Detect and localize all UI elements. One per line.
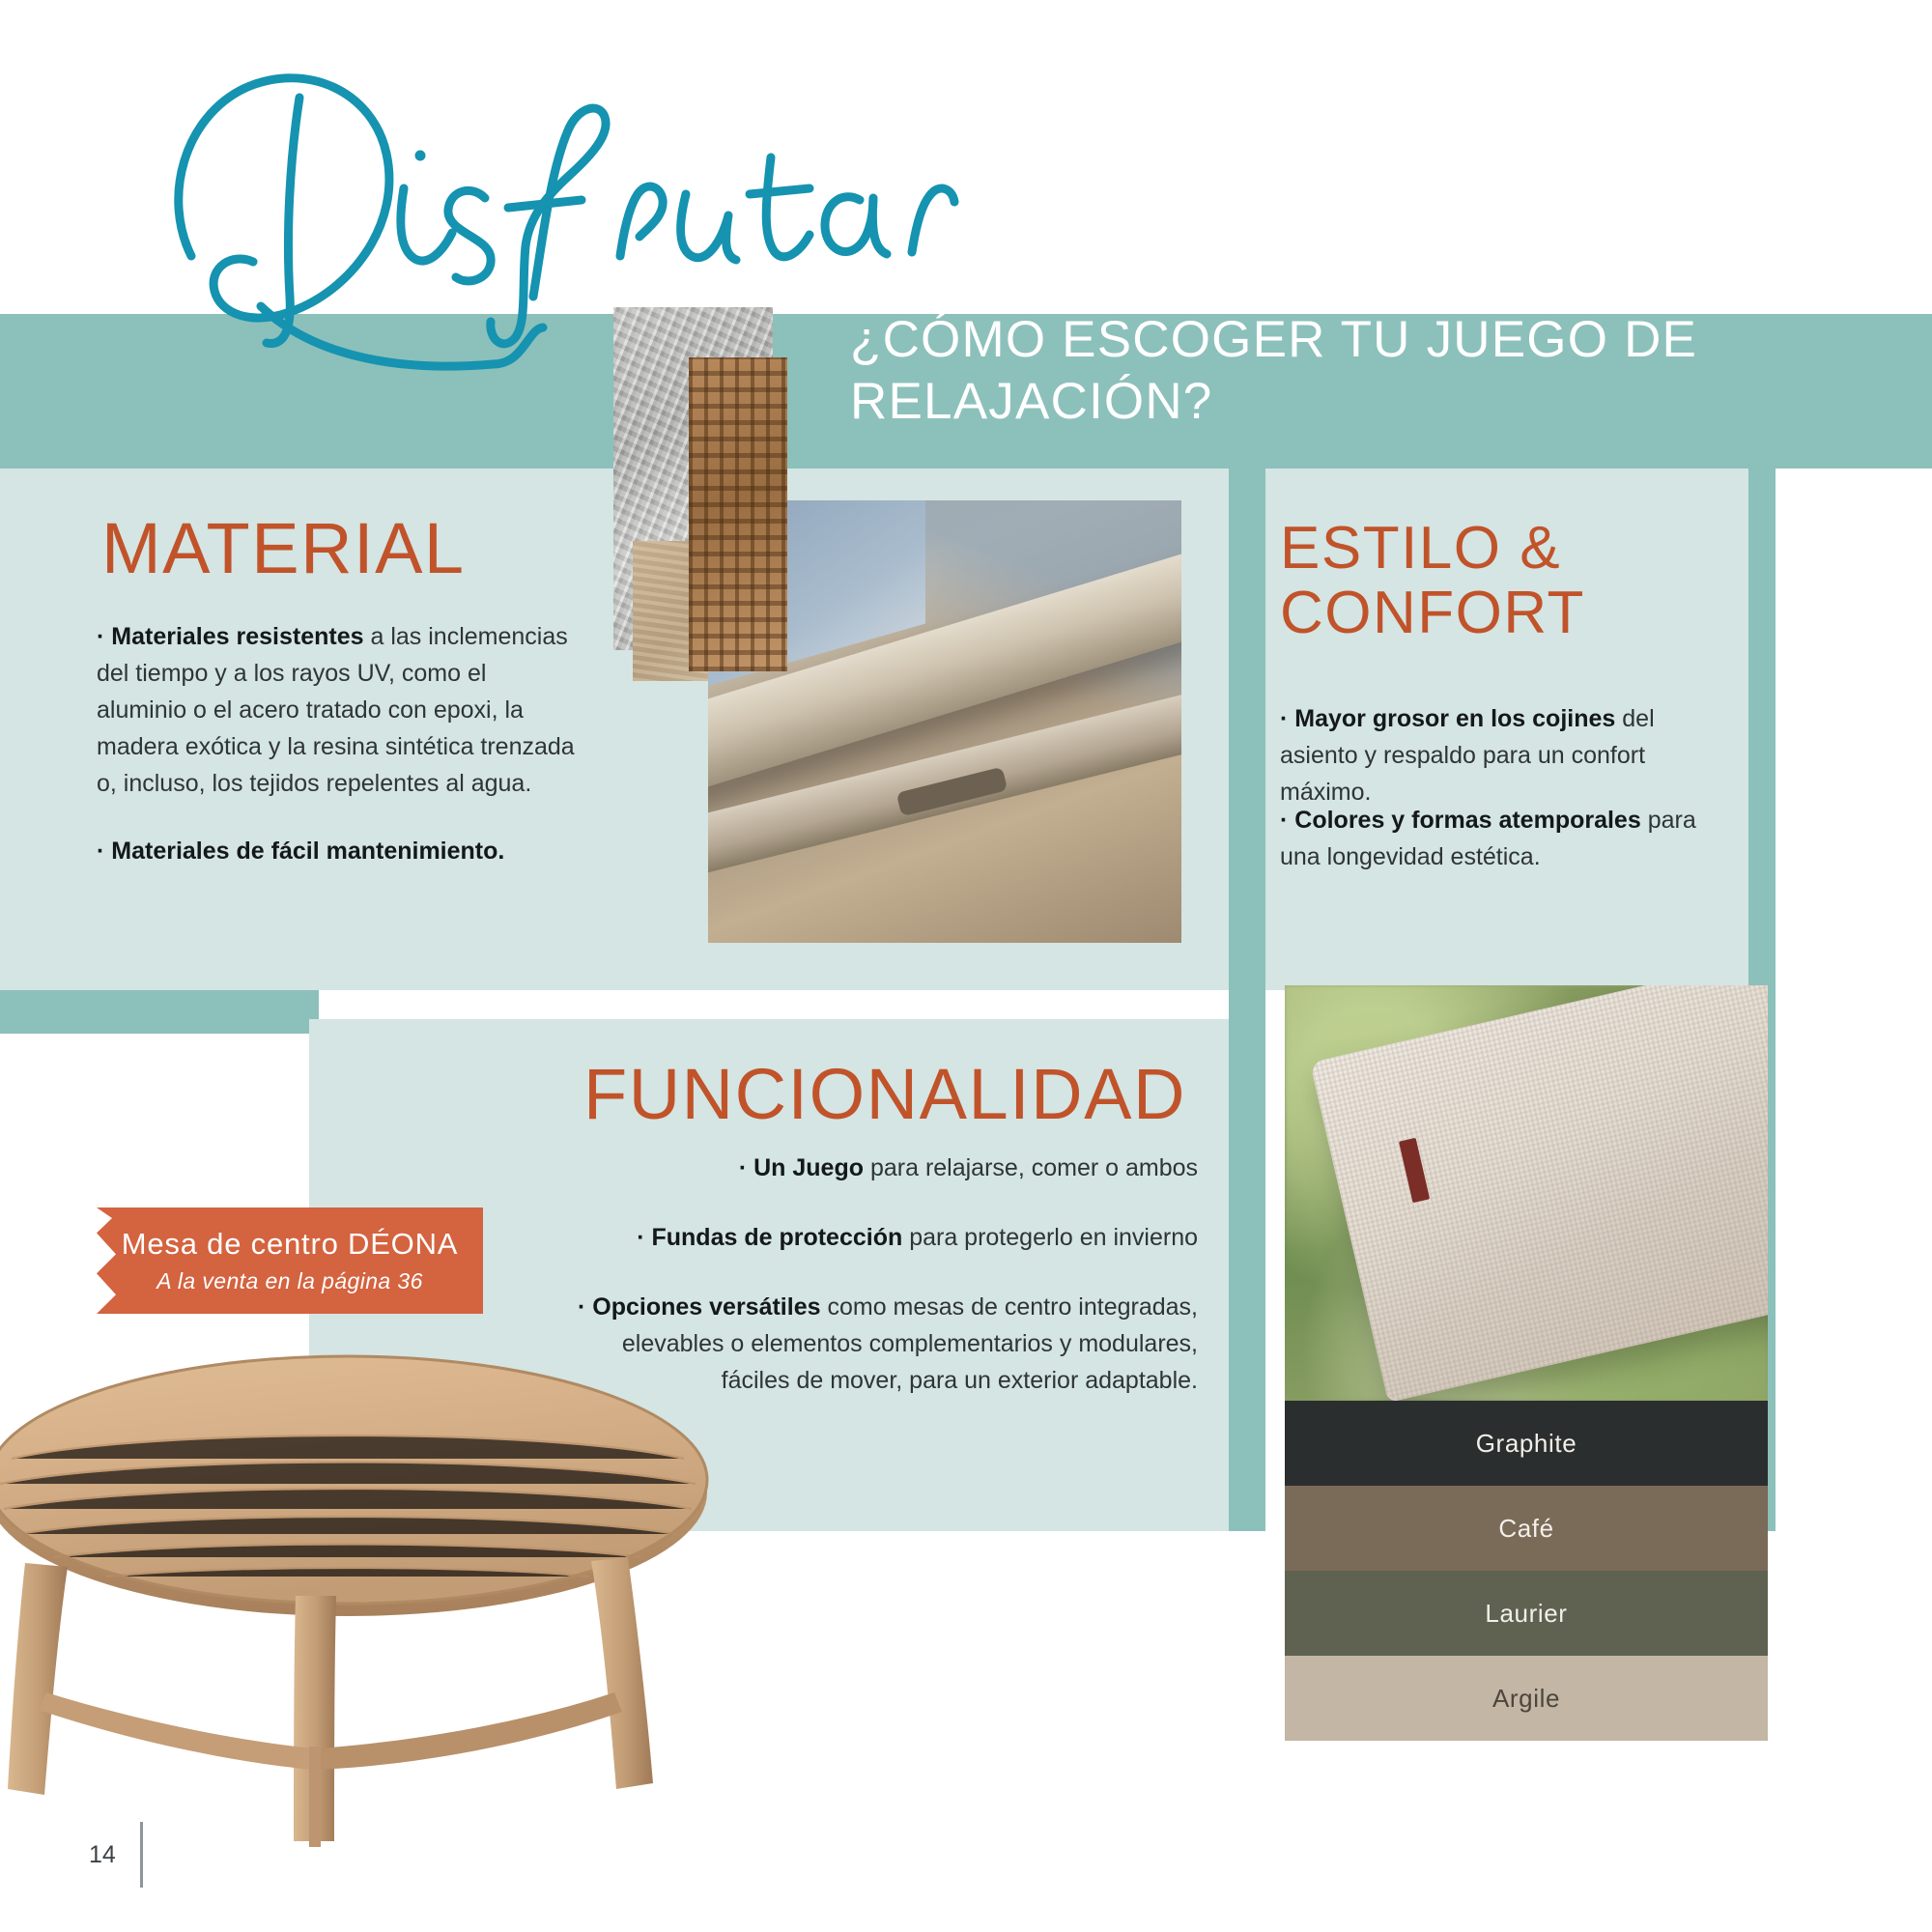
funcionalidad-bullet-1-bold: · Un Juego xyxy=(739,1154,864,1181)
funcionalidad-bullet-1: · Un Juego para relajarse, comer o ambos xyxy=(560,1150,1198,1186)
estilo-bullet-1-bold: · Mayor grosor en los cojines xyxy=(1280,705,1615,732)
ribbon-availability: A la venta en la página 36 xyxy=(156,1268,423,1294)
product-ribbon-deona[interactable]: Mesa de centro DÉONA A la venta en la pá… xyxy=(97,1207,483,1314)
colour-swatch-label: Graphite xyxy=(1476,1429,1577,1459)
colour-swatch-caf[interactable]: Café xyxy=(1285,1486,1768,1571)
colour-swatch-graphite[interactable]: Graphite xyxy=(1285,1401,1768,1486)
colour-swatch-list: GraphiteCaféLaurierArgile xyxy=(1285,1401,1768,1741)
header-question-line2: RELAJACIÓN? xyxy=(850,371,1777,433)
funcionalidad-bullet-2: · Fundas de protección para protegerlo e… xyxy=(560,1219,1198,1256)
estilo-heading: ESTILO & CONFORT xyxy=(1280,517,1585,646)
material-heading: MATERIAL xyxy=(101,507,466,589)
material-swatch-wicker-photo xyxy=(689,357,787,671)
colour-swatch-laurier[interactable]: Laurier xyxy=(1285,1571,1768,1656)
funcionalidad-bullet-2-rest: para protegerlo en invierno xyxy=(902,1224,1198,1251)
estilo-bullet-2-bold: · Colores y formas atemporales xyxy=(1280,807,1641,834)
funcionalidad-bullet-1-rest: para relajarse, comer o ambos xyxy=(864,1154,1198,1181)
catalog-page: ¿CÓMO ESCOGER TU JUEGO DE RELAJACIÓN? MA… xyxy=(0,0,1932,1932)
estilo-heading-line1: ESTILO & xyxy=(1280,517,1585,582)
material-bullet-2-bold: · Materiales de fácil mantenimiento. xyxy=(97,838,504,865)
deona-coffee-table-photo xyxy=(0,1314,811,1893)
teal-divider-strip-mid xyxy=(1229,469,1265,1531)
cushion-detail-photo xyxy=(1285,985,1768,1401)
colour-swatch-label: Laurier xyxy=(1485,1599,1567,1629)
estilo-bullet-2: · Colores y formas atemporales para una … xyxy=(1280,802,1715,875)
estilo-heading-line2: CONFORT xyxy=(1280,582,1585,646)
colour-swatch-argile[interactable]: Argile xyxy=(1285,1656,1768,1741)
colour-swatch-label: Argile xyxy=(1492,1684,1560,1714)
funcionalidad-heading: FUNCIONALIDAD xyxy=(583,1053,1186,1135)
script-title-disfrutar xyxy=(145,53,1034,343)
estilo-bullet-1: · Mayor grosor en los cojines del asient… xyxy=(1280,700,1724,810)
material-bullet-2: · Materiales de fácil mantenimiento. xyxy=(97,833,599,869)
ribbon-product-name: Mesa de centro DÉONA xyxy=(122,1227,459,1262)
funcionalidad-bullet-2-bold: · Fundas de protección xyxy=(637,1224,902,1251)
colour-swatch-label: Café xyxy=(1498,1514,1553,1544)
material-bullet-1: · Materiales resistentes a las inclemenc… xyxy=(97,618,580,802)
material-bullet-1-bold: · Materiales resistentes xyxy=(97,623,364,650)
